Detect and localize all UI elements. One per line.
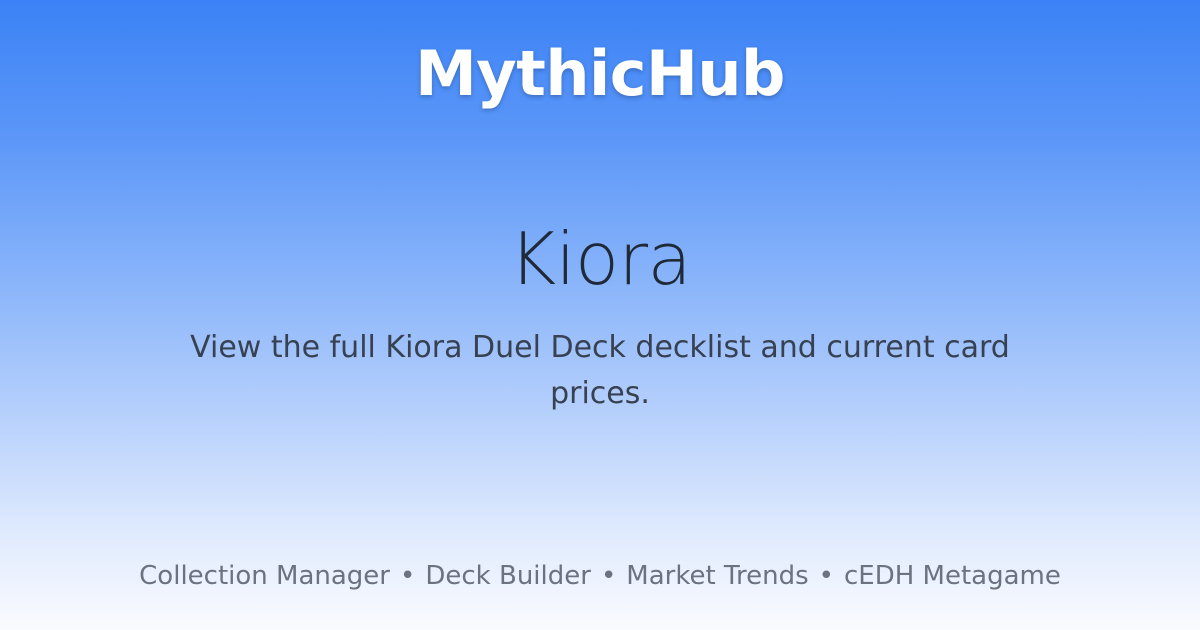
feature-separator-bullet-icon: • [809,563,844,589]
brand-wordmark: MythicHub [415,40,785,108]
page-description: View the full Kiora Duel Deck decklist a… [185,325,1015,416]
feature-item: Market Trends [626,561,808,592]
feature-item: Collection Manager [139,561,390,592]
og-preview-card: MythicHub Kiora View the full Kiora Duel… [0,0,1200,630]
feature-list: Collection Manager•Deck Builder•Market T… [139,561,1061,592]
brand-header: MythicHub [0,40,1200,108]
feature-item: cEDH Metagame [844,561,1061,592]
page-title: Kiora [509,219,691,300]
feature-separator-bullet-icon: • [390,563,425,589]
feature-separator-bullet-icon: • [591,563,626,589]
feature-item: Deck Builder [425,561,591,592]
footer: Collection Manager•Deck Builder•Market T… [0,561,1200,592]
hero-content: Kiora View the full Kiora Duel Deck deck… [0,108,1200,561]
